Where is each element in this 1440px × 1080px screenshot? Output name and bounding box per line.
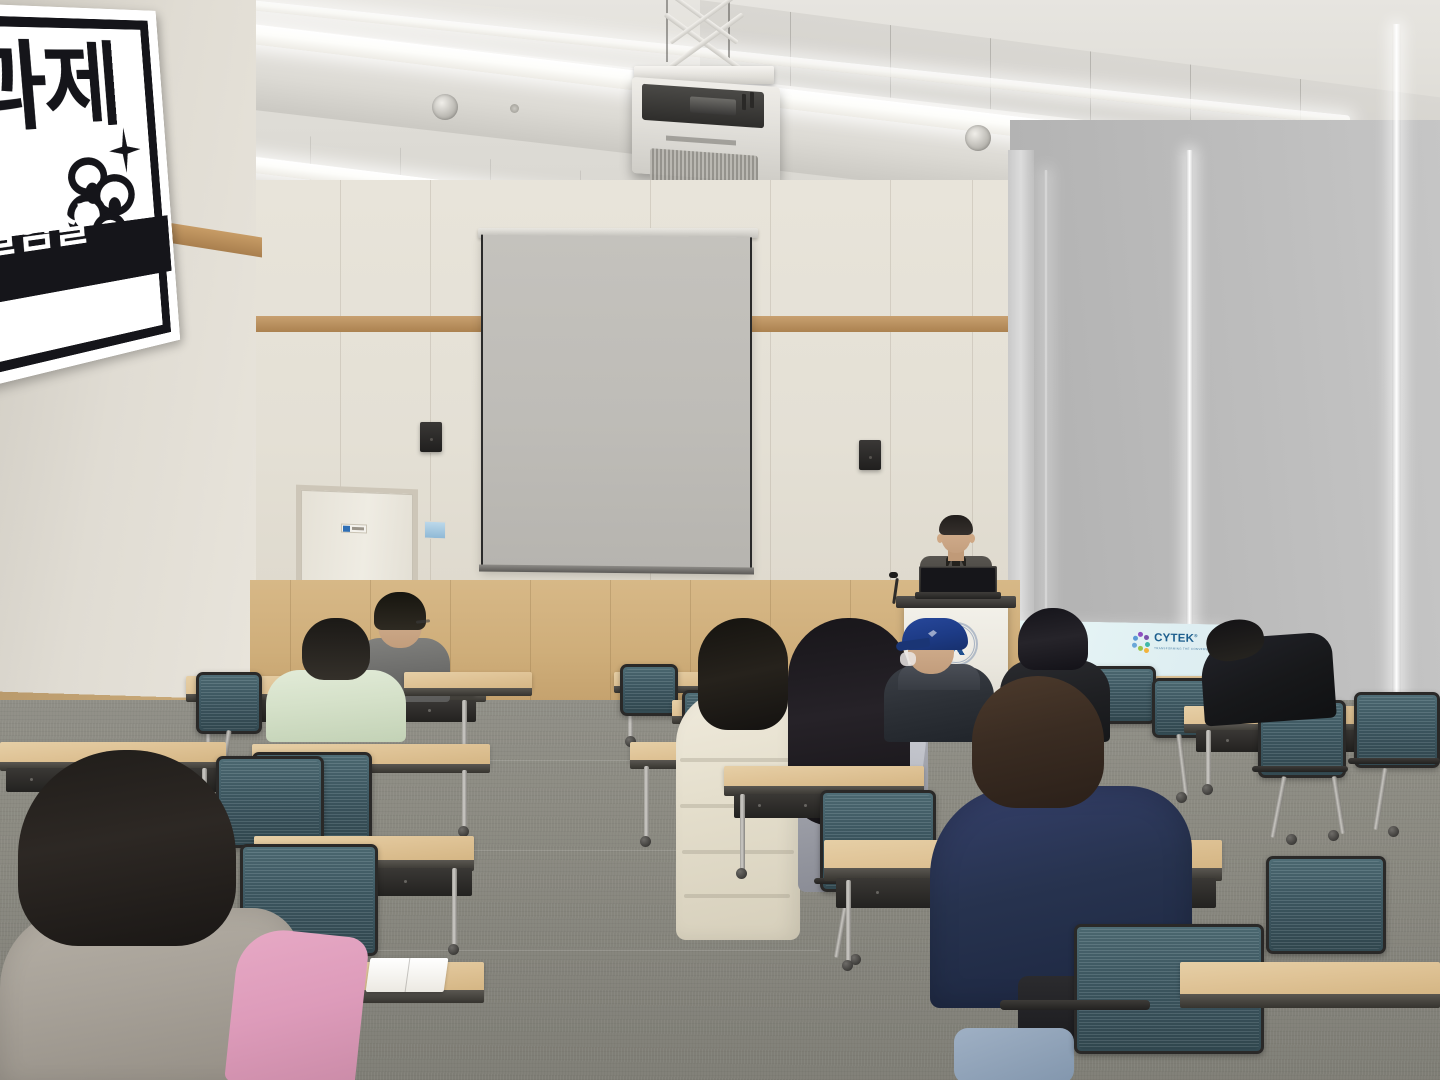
presenter-hair	[939, 515, 973, 535]
chair-far-right-2[interactable]	[1354, 692, 1440, 768]
wall-control-panel[interactable]	[424, 521, 446, 540]
wall-speaker-left	[420, 422, 442, 452]
ceiling-speaker-left	[432, 94, 458, 120]
student-front-left-mint	[266, 618, 406, 742]
lecture-hall-scene: 과제 실험실	[0, 0, 1440, 1080]
face-mask	[900, 652, 916, 666]
foreground-pink-sleeve	[224, 926, 370, 1080]
student-rear-right-black	[1196, 612, 1336, 722]
cytek-dots-icon	[1132, 632, 1151, 651]
banner-text-line1: 과제	[0, 42, 121, 138]
ceiling-sprinkler-left	[510, 104, 519, 113]
wall-speaker-right	[859, 440, 881, 470]
chair-far-right-front[interactable]	[1266, 856, 1386, 954]
chair-left-back[interactable]	[196, 672, 262, 734]
presenter-laptop	[919, 566, 997, 594]
projection-screen: CYTEK® TRANSFORMING THE CONVERSATION CYT…	[481, 235, 752, 574]
door-sign-icon	[341, 524, 367, 534]
student-foreground-vest	[0, 758, 360, 1080]
ceiling-speaker-right	[965, 125, 991, 151]
light-jeans	[954, 1028, 1074, 1080]
open-notebook-foreground	[366, 958, 449, 992]
chair-center-back[interactable]	[620, 664, 678, 716]
desk-center-front-2	[724, 766, 924, 788]
desk-far-right-front	[1180, 962, 1440, 996]
wall-banner: 과제 실험실	[0, 2, 180, 390]
